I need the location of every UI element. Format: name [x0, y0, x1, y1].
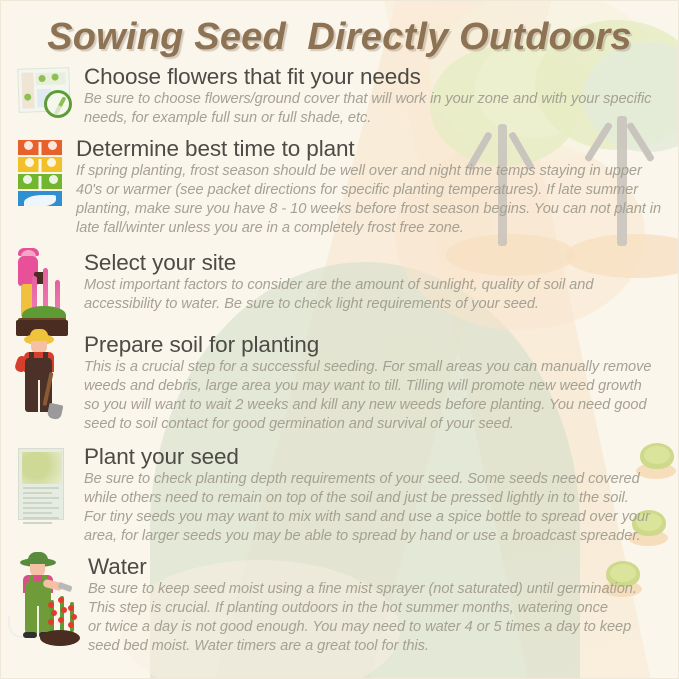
flower-stalk: [50, 600, 54, 632]
season-autumn: [18, 140, 62, 155]
plan-bed: [21, 72, 34, 108]
step-body: Be sure to check planting depth requirem…: [84, 470, 665, 546]
step-heading: Choose flowers that fit your needs: [84, 65, 669, 89]
flower-stalk: [70, 602, 74, 632]
step-body-line: area, for larger seeds you may be able t…: [84, 527, 665, 546]
seed-packet-icon: [10, 444, 76, 528]
infographic-poster: Sowing Seed Directly Outdoors: [0, 0, 679, 679]
step-body-line: or twice a day is not good enough. You m…: [88, 618, 665, 637]
spray-nozzle: [57, 582, 72, 592]
steps-list: Choose flowers that fit your needs Be su…: [0, 0, 679, 679]
step-body: This is a crucial step for a successful …: [84, 358, 665, 434]
compass-icon: [44, 90, 72, 118]
step-body: Be sure to choose flowers/ground cover t…: [84, 90, 669, 128]
gardener-with-shovel-icon: [10, 332, 76, 422]
step-body-line: late fall/winter unless you are in a com…: [76, 219, 669, 238]
leg-separator: [38, 380, 40, 412]
step-text: Choose flowers that fit your needs Be su…: [84, 64, 669, 128]
step-body-line: Be sure to keep seed moist using a fine …: [88, 580, 665, 599]
step-heading: Water: [88, 555, 665, 579]
step-choose-flowers: Choose flowers that fit your needs Be su…: [14, 64, 669, 128]
gardener-shoe: [23, 632, 37, 638]
step-body-line: while others need to remain on top of th…: [84, 489, 665, 508]
step-body-line: This step is crucial. If planting outdoo…: [88, 599, 665, 618]
step-body: If spring planting, frost season should …: [76, 162, 669, 238]
soil-mound: [40, 630, 80, 646]
garden-plan-compass-icon: [14, 64, 76, 126]
flower-planter-person-icon: [10, 250, 76, 340]
seasons-stack: [18, 140, 62, 208]
step-text: Determine best time to plant If spring p…: [76, 136, 669, 238]
step-body-line: so you will want to wait 2 weeks and kil…: [84, 396, 665, 415]
step-determine-time: Determine best time to plant If spring p…: [14, 136, 669, 238]
step-body-line: needs, for example full sun or full shad…: [84, 109, 669, 128]
gardener-watering-icon: [10, 554, 80, 650]
step-body-line: Be sure to check planting depth requirem…: [84, 470, 665, 489]
step-body-line: seed bed moist. Water timers are a great…: [88, 637, 665, 656]
step-body-line: planting, make sure you have 8 - 10 week…: [76, 200, 669, 219]
step-text: Select your site Most important factors …: [84, 250, 665, 314]
step-plant-seed: Plant your seed Be sure to check plantin…: [10, 444, 665, 546]
seed-packet: [18, 448, 64, 520]
step-heading: Plant your seed: [84, 445, 665, 469]
season-spring: [18, 174, 62, 189]
step-heading: Determine best time to plant: [76, 137, 669, 161]
shovel-blade: [47, 403, 64, 421]
seed-packet-text-lines: [23, 487, 59, 515]
flower-stalk: [60, 596, 64, 632]
step-body-line: 40's or warmer (see packet directions fo…: [76, 181, 669, 200]
season-winter: [18, 191, 62, 206]
step-heading: Prepare soil for planting: [84, 333, 665, 357]
step-heading: Select your site: [84, 251, 665, 275]
step-select-site: Select your site Most important factors …: [10, 250, 665, 340]
poster-title: Sowing Seed Directly Outdoors: [0, 16, 679, 59]
step-body-line: Be sure to choose flowers/ground cover t…: [84, 90, 669, 109]
step-prepare-soil: Prepare soil for planting This is a cruc…: [10, 332, 665, 434]
four-seasons-icon: [14, 136, 68, 208]
step-water: Water Be sure to keep seed moist using a…: [10, 554, 665, 656]
step-text: Prepare soil for planting This is a cruc…: [84, 332, 665, 434]
compass-needle: [54, 96, 67, 116]
step-body: Most important factors to consider are t…: [84, 276, 665, 314]
step-text: Water Be sure to keep seed moist using a…: [88, 554, 665, 656]
step-body-line: seed to soil contact for good germinatio…: [84, 415, 665, 434]
step-body-line: If spring planting, frost season should …: [76, 162, 669, 181]
step-body-line: Most important factors to consider are t…: [84, 276, 665, 295]
step-body-line: accessibility to water. Be sure to check…: [84, 295, 665, 314]
leg-separator: [37, 606, 39, 634]
season-summer: [18, 157, 62, 172]
step-body-line: For tiny seeds you may want to mix with …: [84, 508, 665, 527]
step-body-line: weeds and debris, large area you may wan…: [84, 377, 665, 396]
step-body: Be sure to keep seed moist using a fine …: [88, 580, 665, 656]
seed-packet-photo: [22, 452, 62, 484]
step-body-line: This is a crucial step for a successful …: [84, 358, 665, 377]
step-text: Plant your seed Be sure to check plantin…: [84, 444, 665, 546]
